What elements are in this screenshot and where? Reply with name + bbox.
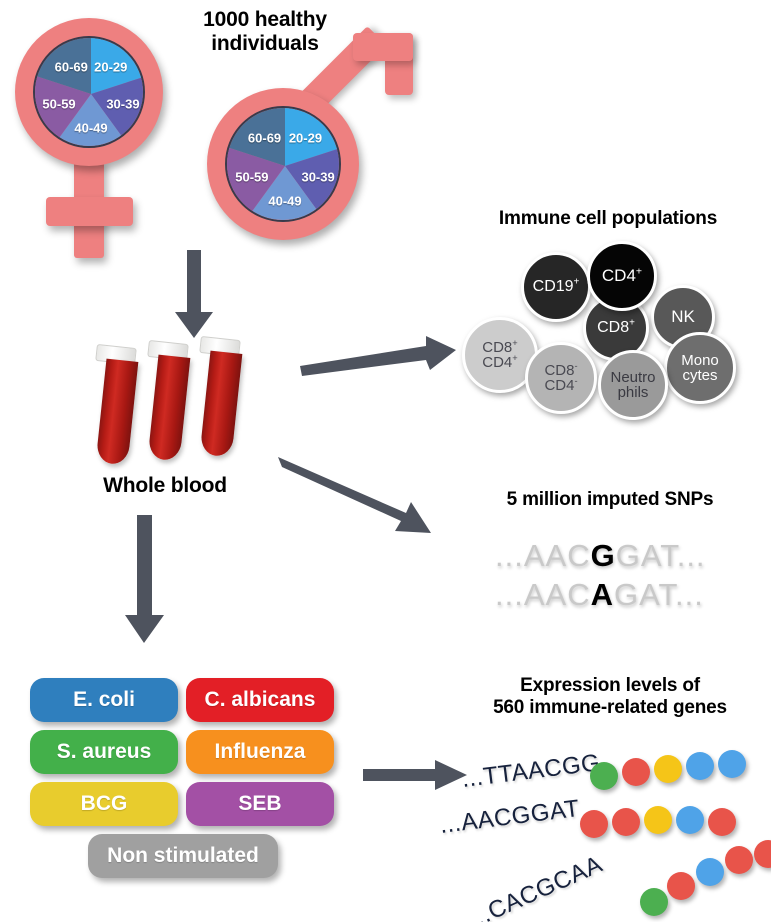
expression-title-line1: Expression levels of: [450, 675, 770, 697]
pie-label-40-49: 40-49: [74, 120, 107, 135]
strand-bead: [696, 858, 724, 886]
stimulus-box-seb[interactable]: SEB: [186, 782, 334, 826]
pie-label-30-39: 30-39: [301, 169, 334, 184]
pie-label-50-59: 50-59: [42, 97, 75, 112]
pie-label-30-39: 30-39: [106, 97, 139, 112]
pie-label-20-29: 20-29: [94, 59, 127, 74]
cell-bubble-cd4pos: CD4+: [587, 241, 657, 311]
snp-suffix: GAT...: [616, 538, 706, 573]
arrow-blood-to-snps: [278, 445, 458, 545]
cell-bubble-cd8neg-cd4neg: CD8- CD4-: [525, 342, 597, 414]
strand-bead: [644, 806, 672, 834]
strand-bead: [725, 846, 753, 874]
pie-label-50-59: 50-59: [235, 169, 268, 184]
strand-bead: [708, 808, 736, 836]
snp-allele-row: ...AACAGAT...: [495, 577, 704, 613]
whole-blood-label: Whole blood: [60, 474, 270, 498]
female-gender-symbol: 20-2930-3940-4950-5960-69: [8, 12, 198, 262]
cell-label-cd8: CD8: [597, 319, 629, 336]
strand-sequence: ...CACGCAA: [464, 851, 607, 922]
cell-label-nk: NK: [671, 308, 695, 325]
male-symbol-arrowhead-horizontal: [353, 33, 413, 61]
cell-bubble-cd19pos: CD19+: [521, 252, 591, 322]
female-age-pie-chart: 20-2930-3940-4950-5960-69: [33, 36, 145, 148]
snp-suffix: GAT...: [614, 577, 704, 612]
stimulus-box-bcg[interactable]: BCG: [30, 782, 178, 826]
male-gender-symbol: 20-2930-3940-4950-5960-69: [205, 30, 420, 245]
pie-label-60-69: 60-69: [248, 130, 281, 145]
cell-label-cd4-pos: CD4: [482, 354, 512, 371]
strand-sequence: ...TTAACGG: [460, 749, 602, 794]
cell-label-cd4-neg: CD4: [544, 377, 574, 394]
cell-label-cytes: cytes: [682, 367, 717, 384]
arrow-blood-to-immune: [300, 330, 460, 380]
strand-bead: [640, 888, 668, 916]
arrow-cohort-to-blood: [175, 250, 225, 340]
snp-prefix: ...AAC: [495, 577, 591, 612]
strand-bead: [667, 872, 695, 900]
cell-label-phils: phils: [618, 384, 649, 401]
expression-title: Expression levels of 560 immune-related …: [450, 675, 770, 719]
study-design-diagram: 1000 healthy individuals 20-2930-3940-49…: [0, 0, 771, 922]
strand-bead: [654, 755, 682, 783]
cell-bubble-monocytes: Mono cytes: [664, 332, 736, 404]
strand-bead: [686, 752, 714, 780]
snp-variant-base: G: [591, 538, 616, 573]
stimulus-box-non-stimulated[interactable]: Non stimulated: [88, 834, 278, 878]
blood-tube-body: [200, 351, 243, 458]
strand-bead: [590, 762, 618, 790]
pie-label-40-49: 40-49: [268, 193, 301, 208]
gene-expression-strands: ...TTAACGG ...AACGGAT ...CACGCAA: [450, 745, 771, 920]
expression-title-line2: 560 immune-related genes: [450, 697, 770, 719]
strand-bead: [676, 806, 704, 834]
strand-bead: [612, 808, 640, 836]
blood-tube-body: [96, 359, 139, 466]
pie-label-60-69: 60-69: [55, 59, 88, 74]
cell-label-cd19: CD19: [533, 278, 574, 295]
snp-allele-row: ...AACGGAT...: [495, 538, 706, 574]
strand-bead: [718, 750, 746, 778]
male-age-pie-chart: 20-2930-3940-4950-5960-69: [225, 106, 341, 222]
stimulus-box-c-albicans[interactable]: C. albicans: [186, 678, 334, 722]
cohort-title-line1: 1000 healthy: [170, 8, 360, 32]
expression-strand: ...AACGGAT: [440, 790, 760, 840]
strand-bead: [754, 840, 771, 868]
immune-cell-populations-title: Immune cell populations: [448, 208, 768, 230]
arrow-blood-to-stimuli: [125, 515, 175, 645]
snp-prefix: ...AAC: [495, 538, 591, 573]
stimulus-box-influenza[interactable]: Influenza: [186, 730, 334, 774]
stimuli-panel: E. coli C. albicans S. aureus Influenza …: [30, 678, 350, 898]
strand-sequence: ...AACGGAT: [438, 795, 581, 840]
cell-label-cd4: CD4: [602, 266, 636, 285]
immune-cell-bubble-cluster: CD8+ CD4+ CD19+ CD4+ NK CD8+ CD8- CD4-: [448, 240, 768, 420]
female-symbol-crossbar: [46, 197, 133, 226]
pie-label-20-29: 20-29: [289, 130, 322, 145]
whole-blood-tubes: [95, 332, 280, 467]
snp-title: 5 million imputed SNPs: [455, 489, 765, 511]
stimulus-box-s-aureus[interactable]: S. aureus: [30, 730, 178, 774]
stimulus-box-e-coli[interactable]: E. coli: [30, 678, 178, 722]
expression-strand: ...CACGCAA: [470, 840, 770, 920]
strand-bead: [580, 810, 608, 838]
cell-bubble-neutrophils: Neutro phils: [598, 350, 668, 420]
blood-tube-body: [148, 355, 191, 462]
strand-bead: [622, 758, 650, 786]
snp-variant-base: A: [591, 577, 614, 612]
